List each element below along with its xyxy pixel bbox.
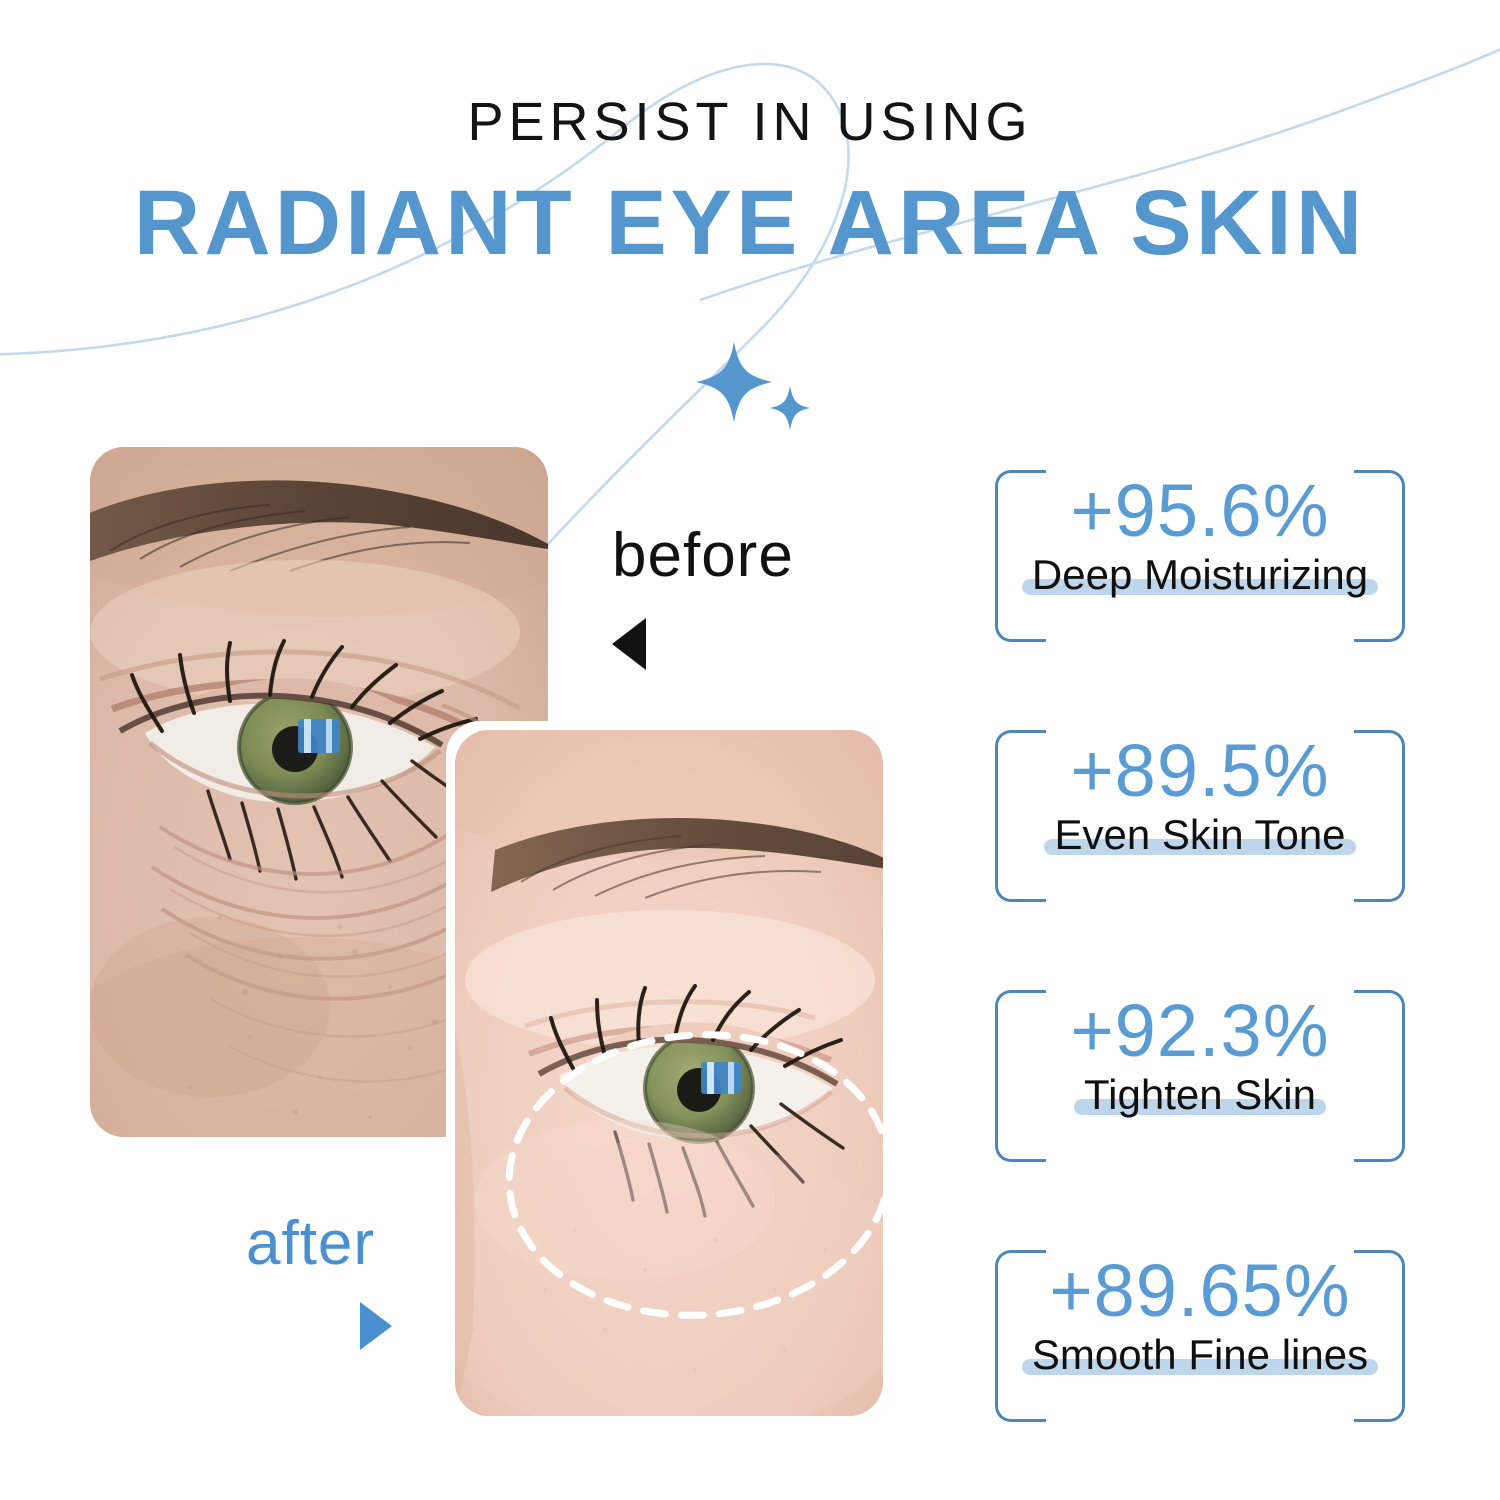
before-label: before [612, 520, 794, 591]
stat-card: +95.6% Deep Moisturizing [995, 470, 1405, 646]
after-label: after [246, 1208, 375, 1279]
headline-subtitle: PERSIST IN USING [0, 95, 1500, 149]
infographic-page: PERSIST IN USING RADIANT EYE AREA SKIN [0, 0, 1500, 1500]
page-title: RADIANT EYE AREA SKIN [0, 177, 1500, 269]
sparkle-icon [690, 338, 830, 434]
stat-label: Even Skin Tone [1054, 812, 1345, 858]
stat-value: +95.6% [995, 472, 1405, 550]
stat-value: +89.65% [995, 1252, 1405, 1330]
stats-list: +95.6% Deep Moisturizing +89.5% Even Ski… [995, 470, 1415, 1426]
stat-value: +89.5% [995, 732, 1405, 810]
after-photo [455, 730, 883, 1416]
stat-card: +89.5% Even Skin Tone [995, 730, 1405, 906]
stat-value: +92.3% [995, 992, 1405, 1070]
stat-label: Tighten Skin [1084, 1072, 1316, 1118]
stat-label: Smooth Fine lines [1032, 1332, 1368, 1378]
before-arrow-icon [612, 618, 646, 670]
headline-block: PERSIST IN USING RADIANT EYE AREA SKIN [0, 95, 1500, 269]
stat-card: +89.65% Smooth Fine lines [995, 1250, 1405, 1426]
stat-card: +92.3% Tighten Skin [995, 990, 1405, 1166]
stat-label: Deep Moisturizing [1032, 552, 1368, 598]
after-arrow-icon [360, 1302, 392, 1350]
